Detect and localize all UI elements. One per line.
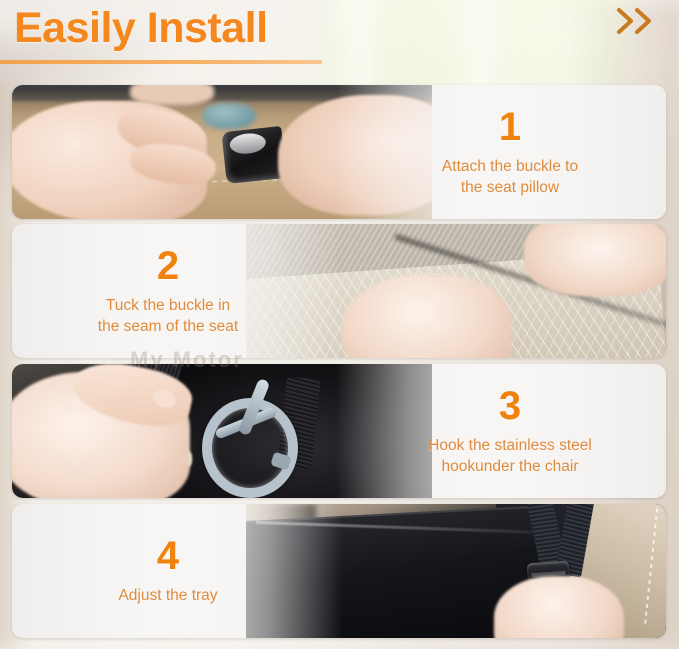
double-chevron-right-icon[interactable] [615,4,657,38]
step-caption-4: 4 Adjust the tray [18,504,318,638]
step-caption-2: 2 Tuck the buckle in the seam of the sea… [18,224,318,358]
step-caption-3: 3 Hook the stainless steel hookunder the… [360,364,660,498]
step-card-2: 2 Tuck the buckle in the seam of the sea… [12,224,666,358]
easily-install-infographic: Easily Install My Motor [0,0,679,649]
step-number-4: 4 [157,536,179,576]
title-underline-rule [0,60,322,64]
step-number-3: 3 [499,386,521,426]
step-card-3: 3 Hook the stainless steel hookunder the… [12,364,666,498]
step-text-4: Adjust the tray [118,585,217,606]
page-title: Easily Install [14,2,268,54]
step-card-4: 4 Adjust the tray [12,504,666,638]
step-text-1: Attach the buckle to the seat pillow [442,156,578,198]
header: Easily Install [0,0,679,84]
step-text-3: Hook the stainless steel hookunder the c… [428,435,592,477]
step-number-2: 2 [157,246,179,286]
step-number-1: 1 [499,107,521,147]
step-card-1: 1 Attach the buckle to the seat pillow [12,85,666,219]
step-text-2: Tuck the buckle in the seam of the seat [98,295,238,337]
step-caption-1: 1 Attach the buckle to the seat pillow [360,85,660,219]
